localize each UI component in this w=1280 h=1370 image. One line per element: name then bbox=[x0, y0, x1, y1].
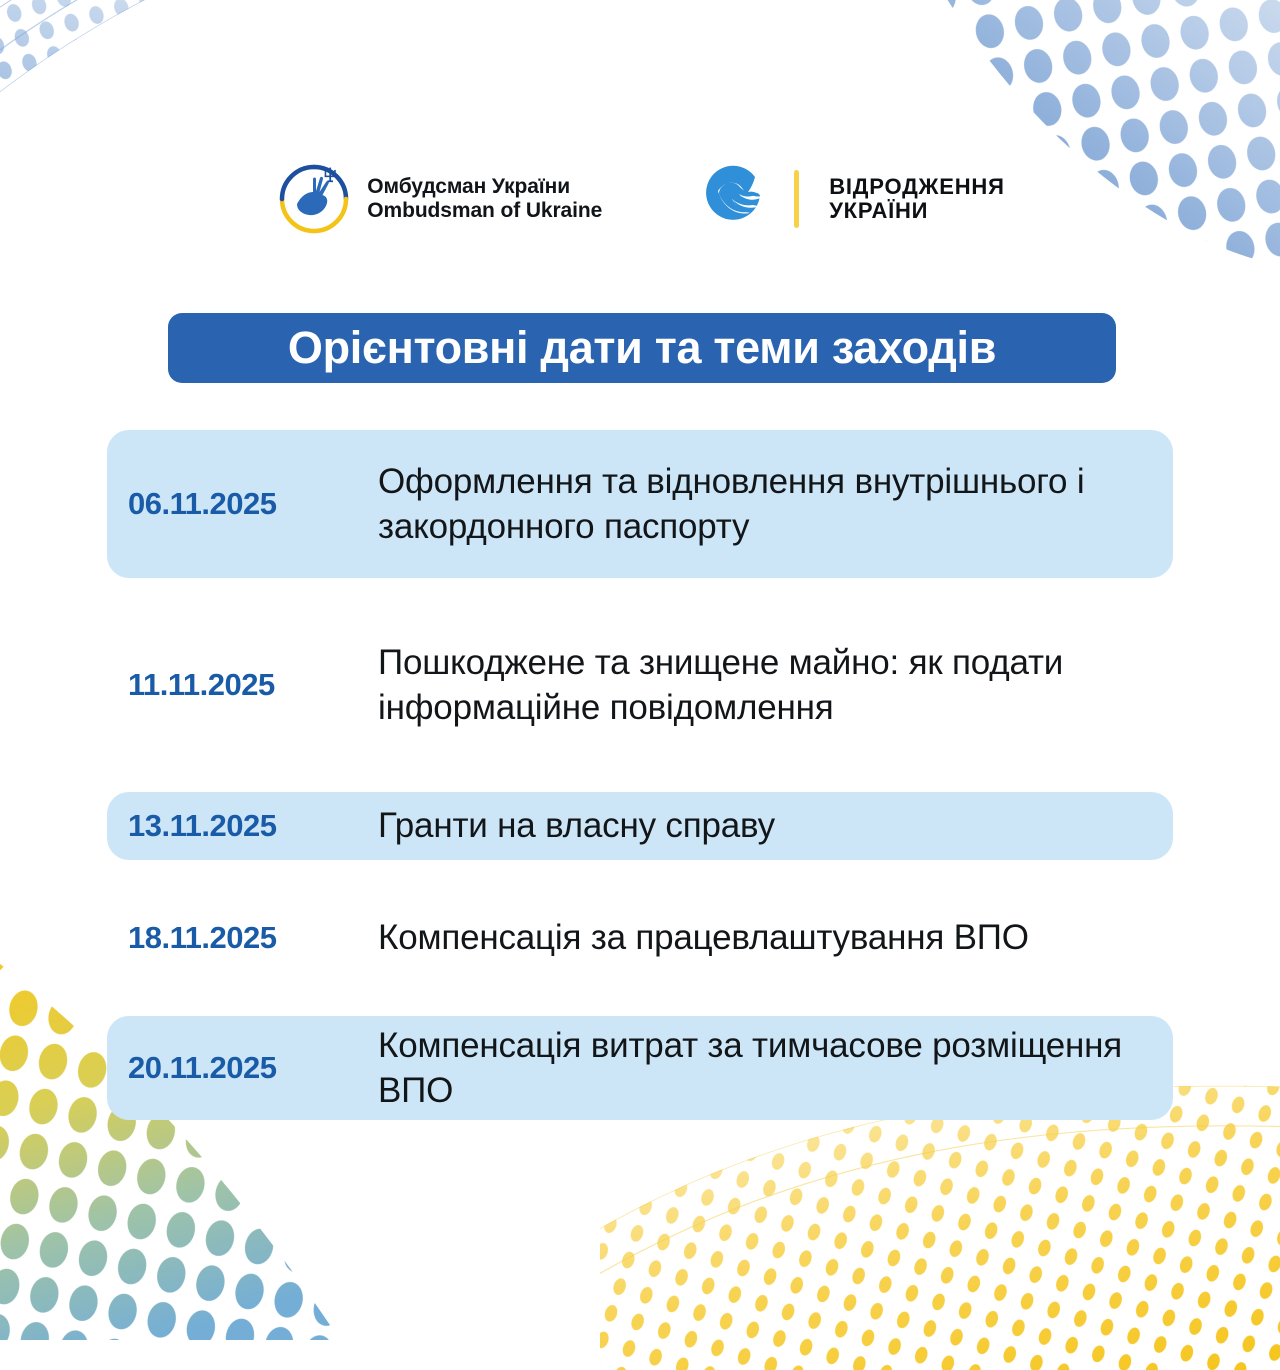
event-topic: Компенсація за працевлаштування ВПО bbox=[378, 915, 1173, 961]
event-date: 06.11.2025 bbox=[107, 486, 378, 522]
schedule-row: 13.11.2025 Гранти на власну справу bbox=[107, 792, 1173, 860]
page-title: Орієнтовні дати та теми заходів bbox=[288, 322, 996, 374]
event-date: 20.11.2025 bbox=[107, 1050, 378, 1086]
event-date: 11.11.2025 bbox=[107, 667, 378, 703]
event-topic: Гранти на власну справу bbox=[378, 803, 1173, 849]
vidrodzhennia-logo-line2: УКРАЇНИ bbox=[829, 199, 1005, 223]
schedule-row: 18.11.2025 Компенсація за працевлаштуван… bbox=[107, 886, 1173, 990]
logo-divider bbox=[794, 170, 799, 228]
logo-bar: Омбудсман України Ombudsman of Ukraine В… bbox=[0, 160, 1280, 238]
schedule-row: 06.11.2025 Оформлення та відновлення вну… bbox=[107, 430, 1173, 578]
schedule-row: 20.11.2025 Компенсація витрат за тимчасо… bbox=[107, 1016, 1173, 1120]
schedule-list: 06.11.2025 Оформлення та відновлення вну… bbox=[107, 430, 1173, 1120]
event-date: 18.11.2025 bbox=[107, 920, 378, 956]
event-topic: Оформлення та відновлення внутрішнього і… bbox=[378, 459, 1173, 550]
ombudsman-logo-line1: Омбудсман України bbox=[367, 175, 602, 199]
phoenix-circle-icon bbox=[698, 161, 774, 237]
ombudsman-dove-circle-icon bbox=[275, 160, 353, 238]
event-topic: Пошкоджене та знищене майно: як подати і… bbox=[378, 640, 1173, 731]
event-date: 13.11.2025 bbox=[107, 808, 378, 844]
schedule-row: 11.11.2025 Пошкоджене та знищене майно: … bbox=[107, 600, 1173, 770]
ombudsman-logo: Омбудсман України Ombudsman of Ukraine bbox=[275, 160, 602, 238]
vidrodzhennia-logo-line1: ВІДРОДЖЕННЯ bbox=[829, 175, 1005, 199]
title-banner: Орієнтовні дати та теми заходів bbox=[168, 313, 1116, 383]
vidrodzhennia-logo: ВІДРОДЖЕННЯ УКРАЇНИ bbox=[698, 161, 1005, 237]
ombudsman-logo-line2: Ombudsman of Ukraine bbox=[367, 199, 602, 223]
event-topic: Компенсація витрат за тимчасове розміщен… bbox=[378, 1023, 1173, 1114]
